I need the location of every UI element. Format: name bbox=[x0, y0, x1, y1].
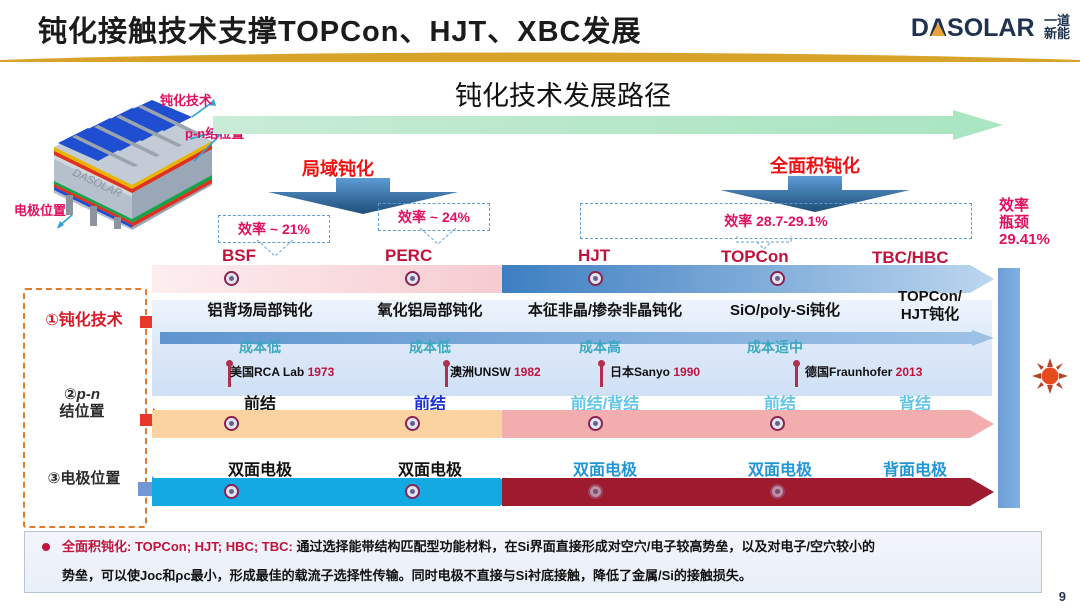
electrode-cell-1: 双面电极 bbox=[185, 456, 335, 480]
milestone-stick-4 bbox=[795, 363, 798, 387]
milestone-4-org: 德国Fraunhofer bbox=[805, 365, 896, 379]
efficiency-bottleneck-bar bbox=[998, 268, 1020, 508]
efficiency-box-advanced: 效率 28.7-29.1% bbox=[580, 203, 972, 239]
section-caption-full-area-passivation: 全面积钝化 bbox=[770, 152, 860, 178]
logo-cn-line1: 一道 bbox=[1044, 14, 1070, 27]
electrode-cell-2: 双面电极 bbox=[355, 456, 505, 480]
tech-label-perc: PERC bbox=[385, 246, 432, 266]
electrode-cell-5: 背面电极 bbox=[845, 456, 985, 480]
marker-hjt-passivation bbox=[588, 271, 603, 286]
marker-topcon-pn bbox=[770, 416, 785, 431]
row-label-electrode: ③电极位置 bbox=[26, 467, 142, 488]
logo-chinese-mark: 一道 新能 bbox=[1044, 14, 1070, 41]
diagram-title: 钝化技术发展路径 bbox=[455, 74, 671, 113]
logo-triangle-icon bbox=[931, 23, 945, 36]
marker-hjt-electrode bbox=[588, 484, 603, 499]
efficiency-bottleneck-label: 效率 瓶颈 29.41% bbox=[999, 198, 1073, 248]
row-label-passivation: ①钝化技术 bbox=[28, 306, 140, 330]
slide-root: 钝化接触技术支撑TOPCon、HJT、XBC发展 DASOLAR 一道 新能 bbox=[0, 0, 1080, 608]
milestone-3: 日本Sanyo 1990 bbox=[610, 363, 700, 380]
note-line-1: 全面积钝化: TOPCon; HJT; HBC; TBC: 通过选择能带结构匹配… bbox=[62, 536, 875, 555]
callout-electrode-position: 电极位置 bbox=[14, 200, 66, 219]
milestone-1: 美国RCA Lab 1973 bbox=[230, 363, 334, 380]
efficiency-box-perc: 效率 ~ 24% bbox=[378, 203, 490, 231]
passivation-cell-5-line1: TOPCon/ bbox=[870, 288, 990, 306]
milestone-stick-3 bbox=[600, 363, 603, 387]
page-title: 钝化接触技术支撑TOPCon、HJT、XBC发展 bbox=[38, 8, 641, 50]
note-bullet-icon bbox=[42, 543, 50, 551]
note-line-1-body: 通过选择能带结构匹配型功能材料，在Si界面直接形成对空穴/电子较高势垒，以及对电… bbox=[296, 539, 875, 554]
passivation-top-arrow bbox=[152, 265, 994, 293]
brand-logo: DASOLAR 一道 新能 bbox=[911, 14, 1070, 48]
milestone-2: 澳洲UNSW 1982 bbox=[450, 363, 541, 380]
cost-label-2: 成本低 bbox=[355, 337, 505, 357]
row-label-pn-line2: 结位置 bbox=[28, 403, 136, 420]
milestone-4-year: 2013 bbox=[896, 365, 923, 379]
electrode-cell-4: 双面电极 bbox=[710, 456, 850, 480]
header-divider bbox=[0, 52, 1080, 62]
pn-junction-arrow bbox=[152, 410, 994, 438]
marker-bsf-electrode bbox=[224, 484, 239, 499]
note-line-1-highlight: 全面积钝化: TOPCon; HJT; HBC; TBC: bbox=[62, 539, 296, 554]
electrode-arrow bbox=[152, 478, 994, 506]
bottleneck-line-3: 29.41% bbox=[999, 232, 1073, 249]
marker-bsf-pn bbox=[224, 416, 239, 431]
row-label-pn-junction: ②p-n 结位置 bbox=[28, 386, 136, 421]
milestone-2-org: 澳洲UNSW bbox=[450, 365, 514, 379]
sun-icon bbox=[1032, 358, 1068, 394]
development-path-arrow bbox=[213, 110, 1003, 140]
logo-cn-line2: 新能 bbox=[1044, 27, 1070, 40]
logo-wordmark: DASOLAR bbox=[911, 14, 1035, 43]
electrode-cell-3: 双面电极 bbox=[525, 456, 685, 480]
marker-perc-passivation bbox=[405, 271, 420, 286]
note-line-2: 势垒，可以使Joc和ρc最小，形成最佳的载流子选择性传输。同时电极不直接与Si衬… bbox=[62, 565, 752, 584]
milestone-1-org: 美国RCA Lab bbox=[230, 365, 308, 379]
bottleneck-line-2: 瓶颈 bbox=[999, 215, 1073, 232]
milestone-4: 德国Fraunhofer 2013 bbox=[805, 363, 922, 380]
efficiency-connector-bsf bbox=[255, 240, 295, 263]
milestone-stick-2 bbox=[445, 363, 448, 387]
passivation-cell-3: 本征非晶/掺杂非晶钝化 bbox=[515, 299, 695, 320]
row-label-pn-line1: ②p-n bbox=[28, 386, 136, 403]
callout-passivation-tech: 钝化技术 bbox=[160, 90, 212, 109]
passivation-cell-4: SiO/poly-Si钝化 bbox=[710, 299, 860, 320]
passivation-cell-5-line2: HJT钝化 bbox=[870, 306, 990, 324]
milestone-1-year: 1973 bbox=[308, 365, 335, 379]
cost-label-3: 成本高 bbox=[540, 337, 660, 357]
efficiency-box-bsf: 效率 ~ 21% bbox=[218, 215, 330, 243]
cost-label-1: 成本低 bbox=[185, 337, 335, 357]
marker-bsf-passivation bbox=[224, 271, 239, 286]
passivation-cell-1: 铝背场局部钝化 bbox=[185, 299, 335, 320]
cost-label-4: 成本适中 bbox=[705, 337, 845, 357]
marker-perc-pn bbox=[405, 416, 420, 431]
page-number: 9 bbox=[1059, 589, 1066, 604]
marker-hjt-pn bbox=[588, 416, 603, 431]
bottleneck-line-1: 效率 bbox=[999, 198, 1073, 215]
tech-label-hjt: HJT bbox=[578, 246, 610, 266]
marker-perc-electrode bbox=[405, 484, 420, 499]
slide-header: 钝化接触技术支撑TOPCon、HJT、XBC发展 DASOLAR 一道 新能 bbox=[0, 0, 1080, 60]
passivation-cell-2: 氧化铝局部钝化 bbox=[355, 299, 505, 320]
tech-label-bsf: BSF bbox=[222, 246, 256, 266]
milestone-2-year: 1982 bbox=[514, 365, 541, 379]
marker-topcon-passivation bbox=[770, 271, 785, 286]
passivation-cell-5: TOPCon/ HJT钝化 bbox=[870, 288, 990, 324]
tech-label-topcon: TOPCon bbox=[721, 247, 789, 267]
marker-topcon-electrode bbox=[770, 484, 785, 499]
milestone-3-year: 1990 bbox=[673, 365, 700, 379]
milestone-3-org: 日本Sanyo bbox=[610, 365, 673, 379]
